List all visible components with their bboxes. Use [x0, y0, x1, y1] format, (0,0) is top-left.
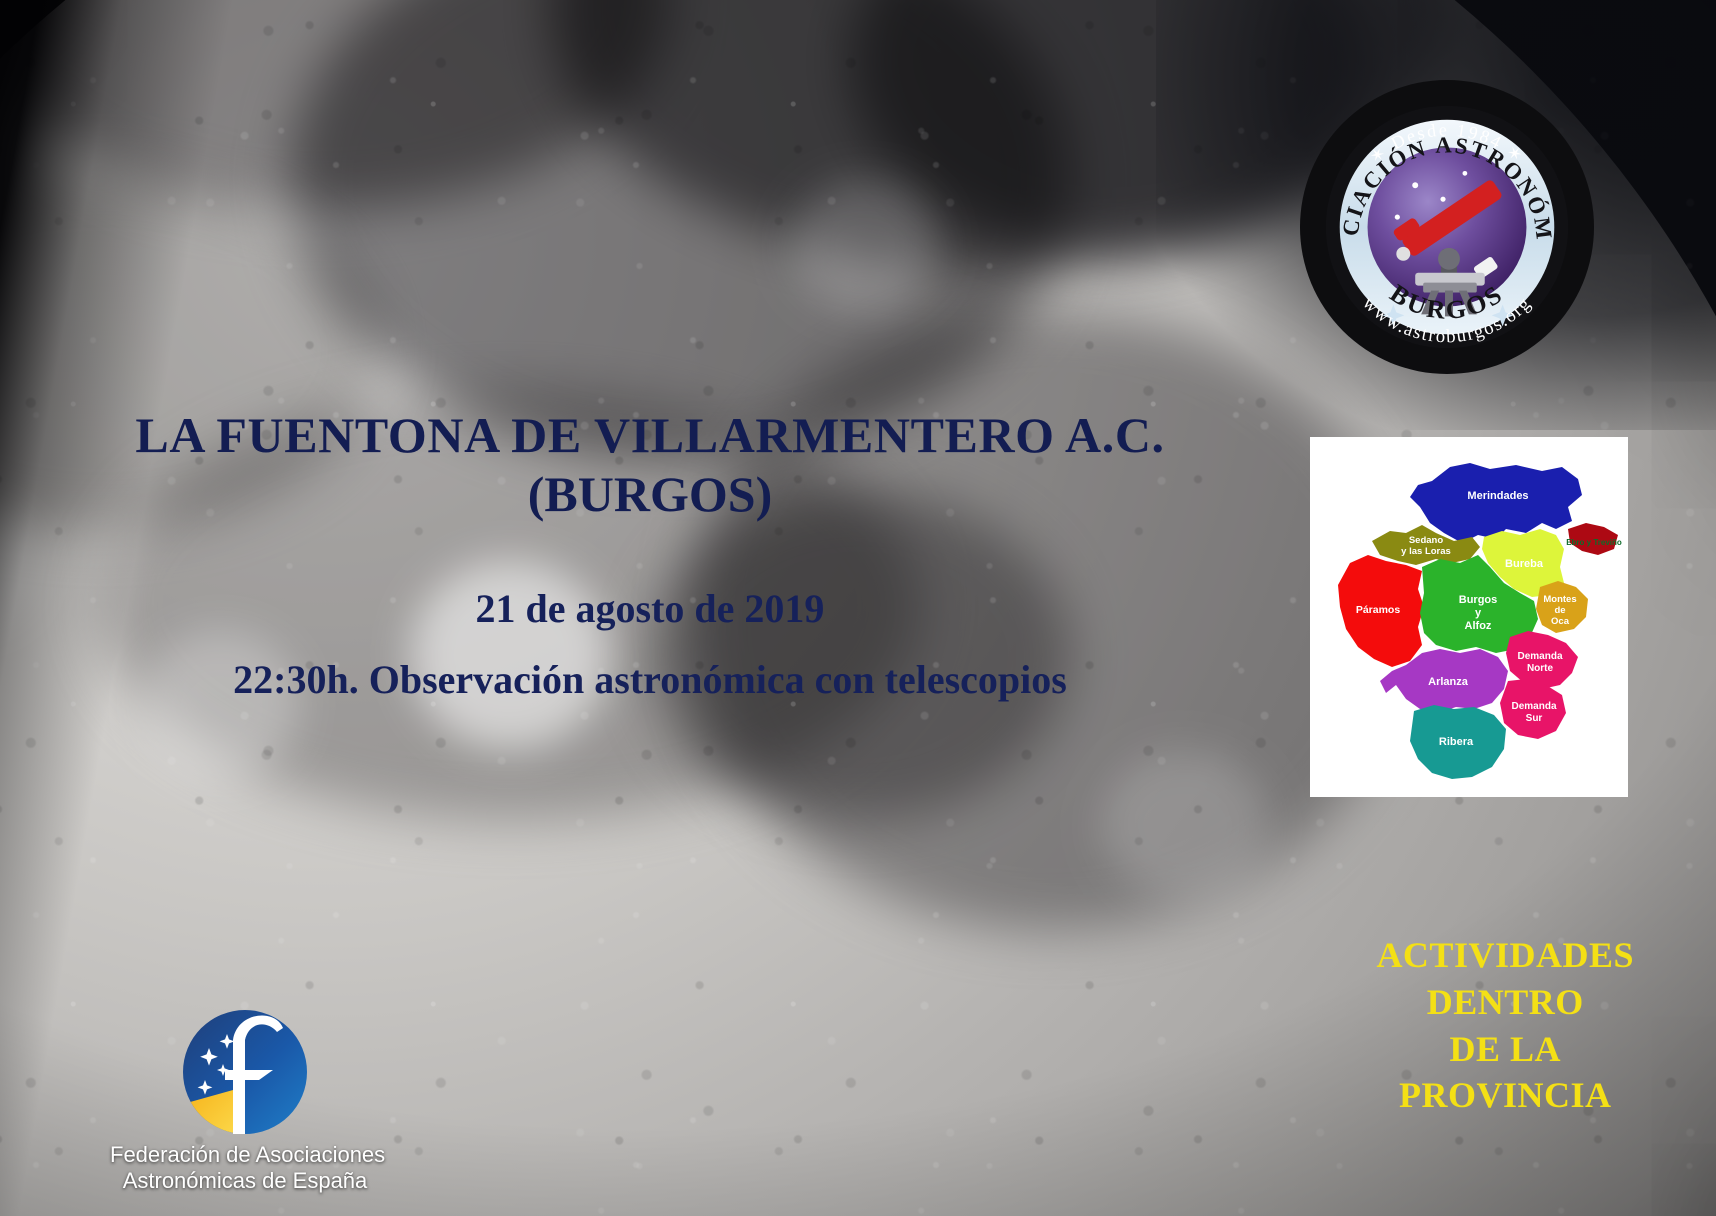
- callout-line-3: DE LA: [1376, 1026, 1634, 1073]
- map-label-merindades: Merindades: [1467, 490, 1528, 502]
- map-label-montes-1: Montes: [1543, 594, 1576, 605]
- map-label-burgos-alfoz-1: Burgos: [1459, 594, 1498, 606]
- map-label-ribera: Ribera: [1439, 736, 1474, 748]
- federation-caption-line-1: Federación de Asociaciones: [110, 1142, 380, 1168]
- map-label-demanda-norte-2: Norte: [1527, 663, 1554, 674]
- map-label-montes-3: Oca: [1551, 616, 1570, 627]
- map-label-sedano-1: Sedano: [1409, 535, 1444, 546]
- map-label-demanda-sur-1: Demanda: [1511, 701, 1556, 712]
- map-label-montes-2: de: [1554, 605, 1565, 616]
- burgos-comarcas-map: Merindades Sedano y las Loras Bureba Ebr…: [1310, 437, 1628, 797]
- poster-canvas: ✶ Desde 1984 ✶ ASOCIACIÓN ASTRONÓMICA BU…: [0, 0, 1716, 1216]
- map-label-ebro-trevino: Ebro y Treviño: [1566, 538, 1622, 547]
- page-title: LA FUENTONA DE VILLARMENTERO A.C.: [120, 406, 1180, 464]
- callout-line-1: ACTIVIDADES: [1376, 932, 1634, 979]
- map-label-arlanza: Arlanza: [1428, 676, 1469, 688]
- event-date: 21 de agosto de 2019: [120, 585, 1180, 632]
- association-logo: ✶ Desde 1984 ✶ ASOCIACIÓN ASTRONÓMICA BU…: [1298, 78, 1596, 376]
- callout-line-2: DENTRO: [1376, 979, 1634, 1026]
- event-description: 22:30h. Observación astronómica con tele…: [120, 656, 1180, 703]
- activities-callout: ACTIVIDADES DENTRO DE LA PROVINCIA: [1376, 932, 1634, 1119]
- page-subtitle: (BURGOS): [120, 464, 1180, 525]
- map-label-burgos-alfoz-3: Alfoz: [1465, 620, 1492, 632]
- federation-caption: Federación de Asociaciones Astronómicas …: [110, 1142, 380, 1194]
- callout-line-4: PROVINCIA: [1376, 1072, 1634, 1119]
- faae-f-circle-icon: [181, 1008, 309, 1136]
- federation-caption-line-2: Astronómicas de España: [110, 1168, 380, 1194]
- map-label-burgos-alfoz-2: y: [1475, 607, 1482, 619]
- headline-block: LA FUENTONA DE VILLARMENTERO A.C. (BURGO…: [120, 406, 1180, 703]
- map-label-demanda-sur-2: Sur: [1526, 713, 1543, 724]
- map-label-paramos: Páramos: [1356, 604, 1401, 616]
- federation-logo: Federación de Asociaciones Astronómicas …: [110, 1008, 380, 1194]
- map-label-demanda-norte-1: Demanda: [1517, 651, 1562, 662]
- map-label-bureba: Bureba: [1505, 558, 1544, 570]
- map-label-sedano-2: y las Loras: [1401, 546, 1451, 557]
